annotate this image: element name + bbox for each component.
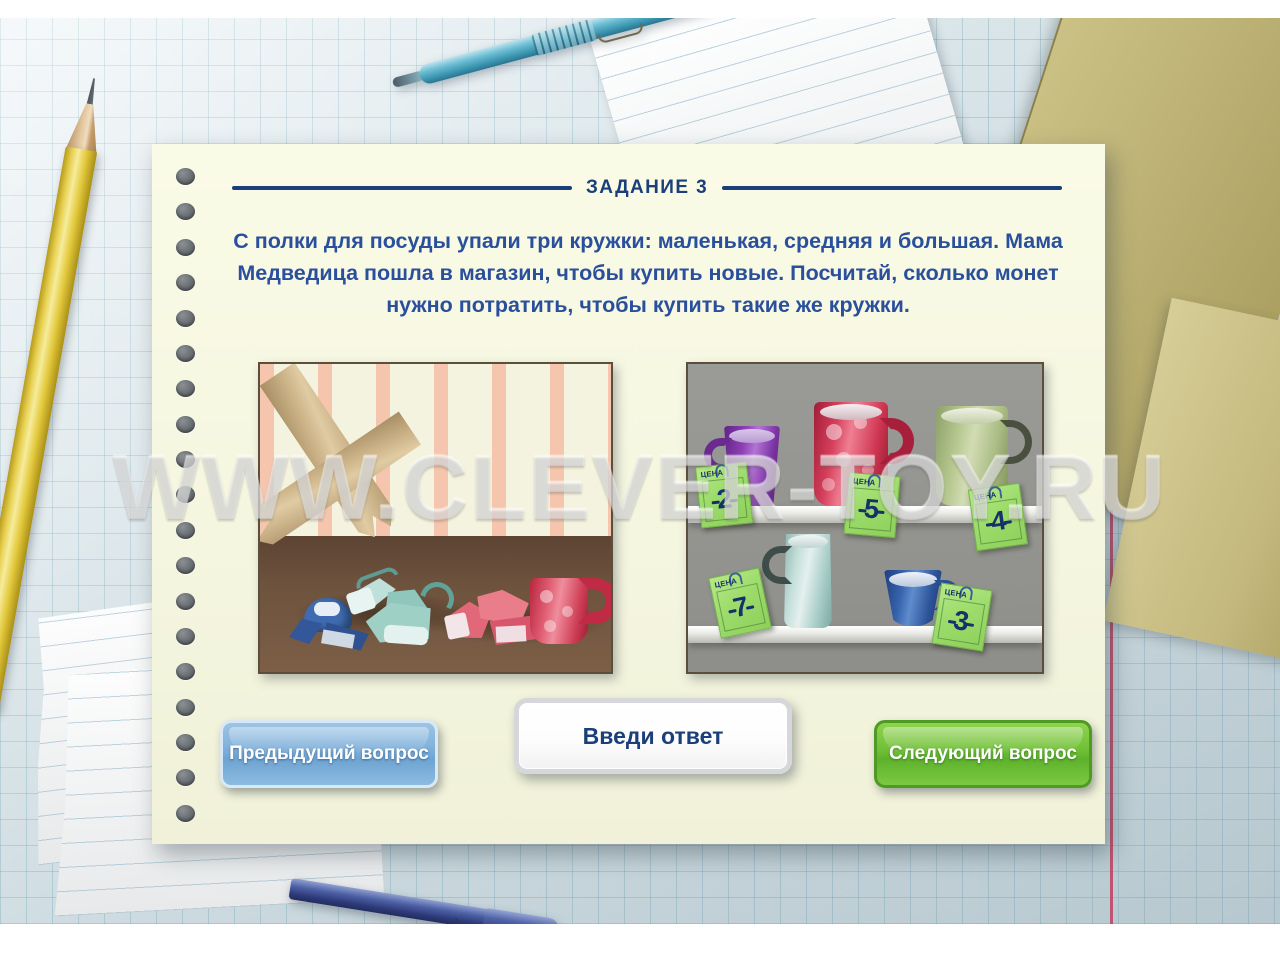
desk-background: ЗАДАНИЕ 3 С полки для посуды упали три к… <box>0 18 1280 924</box>
binding-hole <box>176 628 195 645</box>
dash-left <box>858 508 866 512</box>
binding-hole <box>176 451 195 468</box>
price-tag: ЦЕНА 2 <box>695 461 753 528</box>
red-shard <box>444 612 471 640</box>
title-rule-left <box>232 186 572 190</box>
binding-holes <box>168 168 202 822</box>
binding-hole <box>176 274 195 291</box>
price-tag: ЦЕНА 3 <box>931 582 992 651</box>
binding-hole <box>176 805 195 822</box>
binding-hole <box>176 663 195 680</box>
tag-value-box: 2 <box>701 477 747 522</box>
red-mug-handle <box>578 578 613 624</box>
price-word: ЦЕНА <box>973 490 997 502</box>
tag-value-box: 3 <box>937 598 985 645</box>
dash-right <box>1004 520 1012 524</box>
dash-right <box>729 498 737 502</box>
tag-value-box: 4 <box>975 498 1022 544</box>
price-tag: ЦЕНА 4 <box>968 483 1028 552</box>
binding-hole <box>176 593 195 610</box>
binding-hole <box>176 486 195 503</box>
teal-pen-grip <box>531 19 597 56</box>
price-word: ЦЕНА <box>700 468 723 479</box>
binding-hole <box>176 769 195 786</box>
binding-hole <box>176 557 195 574</box>
blue-pen-icon <box>288 876 588 924</box>
binding-hole <box>176 380 195 397</box>
binding-hole <box>176 203 195 220</box>
illustration-broken-shelf <box>258 362 613 674</box>
binding-hole <box>176 168 195 185</box>
price-word: ЦЕНА <box>853 476 876 487</box>
title-rule-right <box>722 186 1062 190</box>
price-tag: ЦЕНА 5 <box>843 472 900 538</box>
tag-value-box: 7 <box>716 583 766 632</box>
answer-input[interactable]: Введи ответ <box>514 698 792 774</box>
mint-shard <box>383 624 428 645</box>
red-shard <box>496 625 527 643</box>
binding-hole <box>176 310 195 327</box>
binding-hole <box>176 522 195 539</box>
page-title: ЗАДАНИЕ 3 <box>586 177 708 199</box>
blue-pen-cap <box>482 908 561 924</box>
binding-hole <box>176 345 195 362</box>
previous-question-label: Предыдущий вопрос <box>229 742 429 765</box>
mint-mug-handle <box>762 546 792 584</box>
task-card: ЗАДАНИЕ 3 С полки для посуды упали три к… <box>152 144 1105 844</box>
blue-shard-inner <box>314 602 340 616</box>
task-title-row: ЗАДАНИЕ 3 <box>232 177 1062 199</box>
tag-value-box: 5 <box>849 487 894 532</box>
binding-hole <box>176 416 195 433</box>
illustration-shop-shelves: ЦЕНА 2 ЦЕНА 5 ЦЕНА <box>686 362 1044 674</box>
previous-question-button[interactable]: Предыдущий вопрос <box>220 720 438 788</box>
question-text: С полки для посуды упали три кружки: мал… <box>226 226 1070 321</box>
next-question-button[interactable]: Следующий вопрос <box>874 720 1092 788</box>
binding-hole <box>176 239 195 256</box>
dash-left <box>948 619 956 623</box>
dash-right <box>876 510 884 514</box>
next-question-label: Следующий вопрос <box>889 742 1077 765</box>
binding-hole <box>176 734 195 751</box>
binding-hole <box>176 699 195 716</box>
answer-placeholder: Введи ответ <box>583 723 724 750</box>
